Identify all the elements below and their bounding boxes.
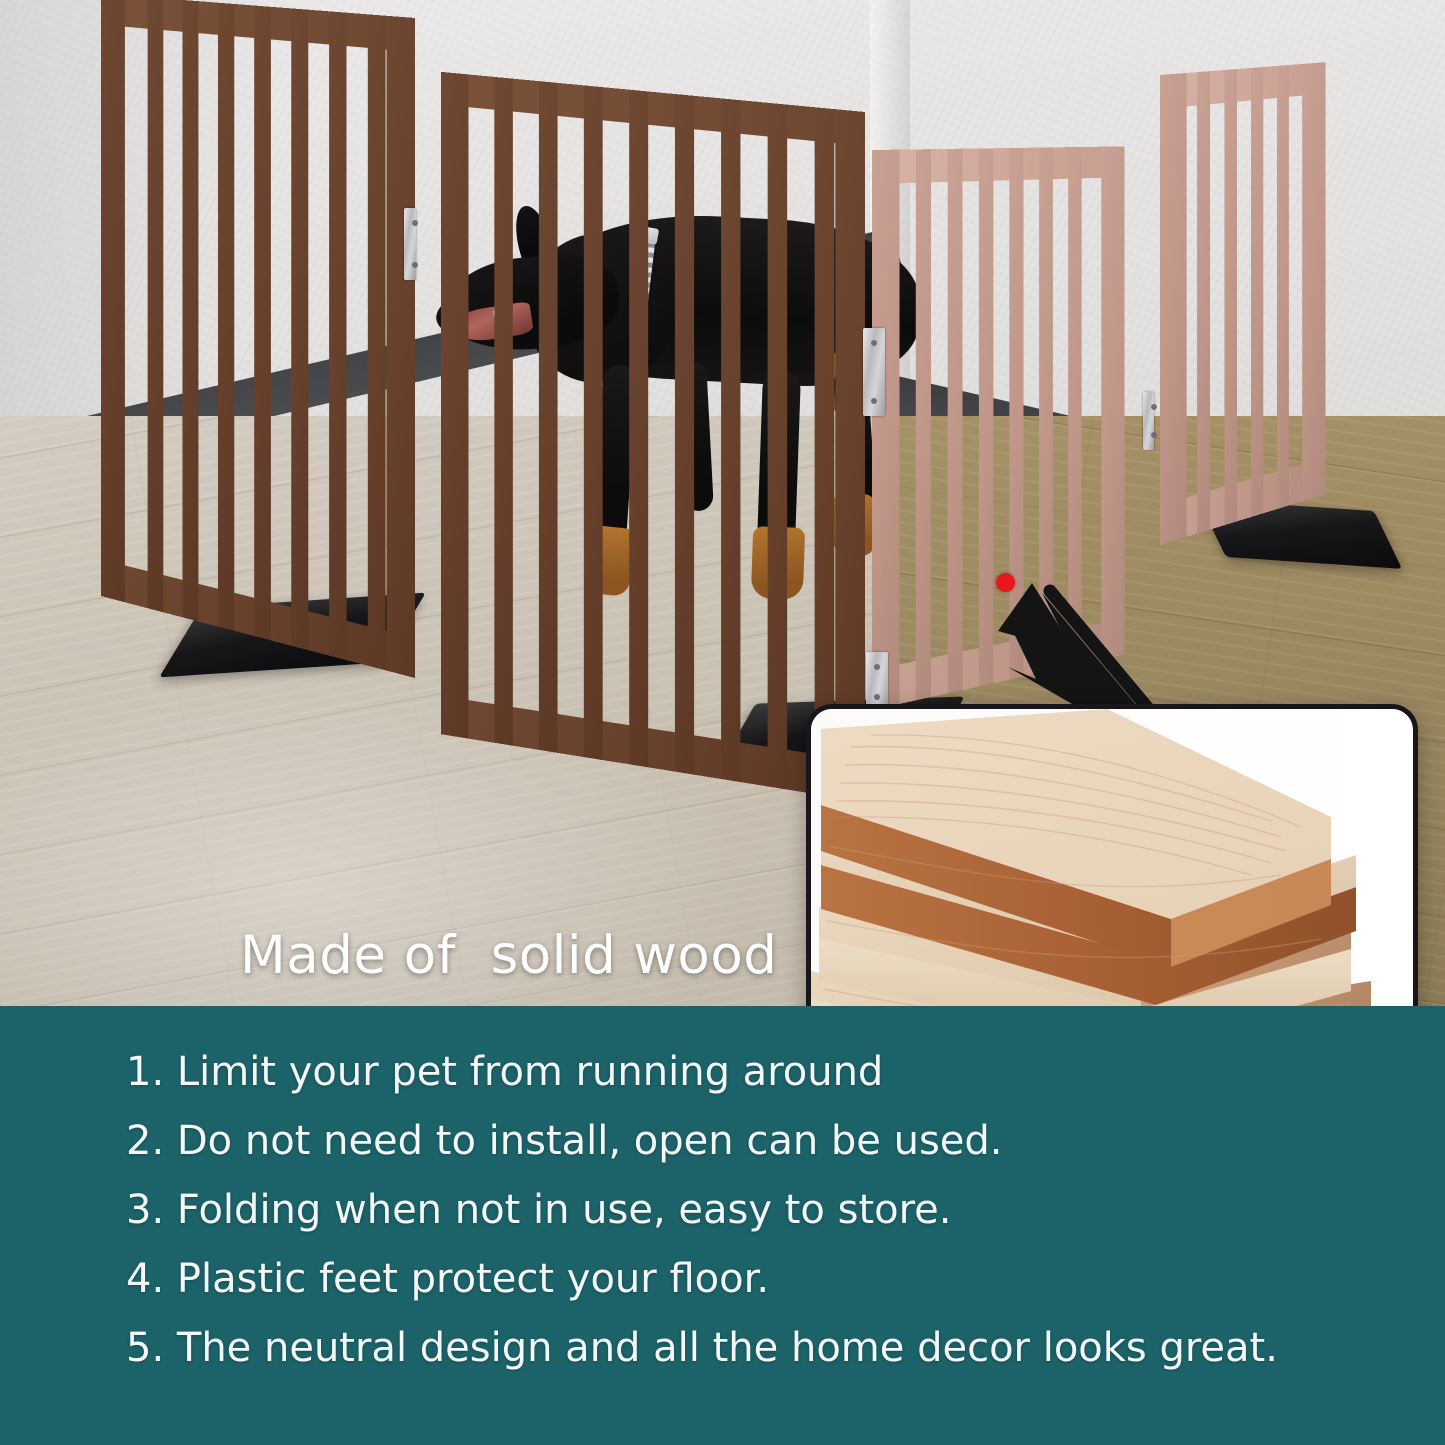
gate-hinge <box>866 652 888 712</box>
gate-slat <box>721 98 740 782</box>
panel-right-stile <box>1302 62 1325 501</box>
gate-slat <box>1197 71 1210 534</box>
list-item: 1. Limit your pet from running around <box>126 1038 1386 1107</box>
list-item: 2. Do not need to install, open can be u… <box>126 1107 1386 1176</box>
product-photo: Made of solid wood <box>0 0 1445 1006</box>
gate-slat <box>494 77 513 746</box>
panel-left-stile <box>1160 73 1187 545</box>
panel-left-stile <box>101 0 125 602</box>
gate-hinge <box>1143 392 1154 450</box>
gate-slat <box>291 8 308 650</box>
gate-slat <box>182 0 198 621</box>
gate-slat <box>539 81 558 753</box>
gate-slat <box>815 107 835 797</box>
panel-left-stile <box>441 72 469 739</box>
panel-left-stile <box>872 150 900 710</box>
gate-hinge <box>404 208 416 280</box>
gate-slat <box>948 149 963 694</box>
gate-slat <box>675 94 694 775</box>
panel-top-rail <box>872 146 1124 184</box>
panel-right-stile <box>387 16 415 678</box>
gate-slat <box>629 90 648 768</box>
wood-boards-illustration <box>811 709 1403 1006</box>
list-item: 4. Plastic feet protect your floor. <box>126 1245 1386 1314</box>
gate-panel-4 <box>1160 62 1325 545</box>
list-item: 5. The neutral design and all the home d… <box>126 1314 1386 1383</box>
gate-slat <box>1277 65 1289 509</box>
gate-slat <box>329 11 346 660</box>
gate-slat <box>768 103 788 790</box>
gate-slat <box>368 14 386 670</box>
headline-made-of-solid-wood: Made of solid wood <box>240 925 777 986</box>
gate-slat <box>254 6 271 641</box>
feature-list-band: 1. Limit your pet from running around 2.… <box>0 1006 1445 1445</box>
gate-slat <box>584 85 603 760</box>
gate-slat <box>1224 69 1237 525</box>
panel-right-stile <box>835 109 865 802</box>
product-marketing-image: Made of solid wood <box>0 0 1445 1445</box>
gate-slat <box>218 3 234 631</box>
gate-slat <box>916 149 931 700</box>
list-item: 3. Folding when not in use, easy to stor… <box>126 1176 1386 1245</box>
gate-slat <box>148 0 164 612</box>
feature-list: 1. Limit your pet from running around 2.… <box>126 1038 1386 1383</box>
gate-slat <box>1251 67 1263 517</box>
wood-boards-inset <box>806 704 1418 1006</box>
gate-panel-1 <box>101 0 415 678</box>
gate-panel-2 <box>441 72 865 802</box>
gate-hinge <box>863 328 885 416</box>
